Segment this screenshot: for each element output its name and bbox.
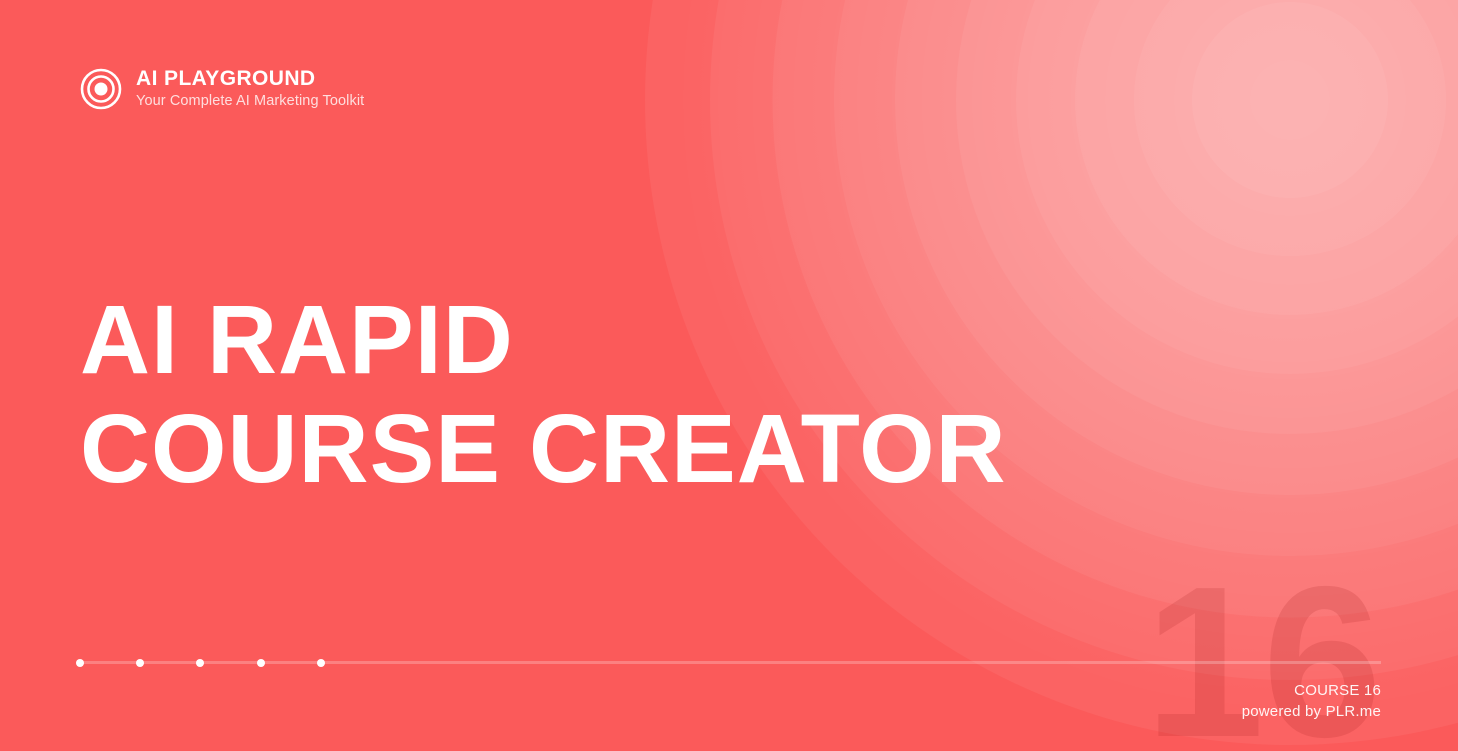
slide-canvas: 16 AI PLAYGROUND Your Complete AI Market…	[0, 0, 1458, 751]
target-circles-icon	[80, 68, 122, 110]
background-ring	[1134, 0, 1446, 256]
progress-dot[interactable]	[76, 659, 84, 667]
footer-course-label: COURSE 16	[1242, 681, 1381, 702]
brand-tagline: Your Complete AI Marketing Toolkit	[136, 93, 364, 110]
progress-dot[interactable]	[136, 659, 144, 667]
progress-dot[interactable]	[257, 659, 265, 667]
slide-footer: COURSE 16 powered by PLR.me	[1242, 681, 1381, 722]
background-ring	[1075, 0, 1458, 315]
brand-title: AI PLAYGROUND	[136, 68, 364, 91]
brand-text-block: AI PLAYGROUND Your Complete AI Marketing…	[136, 68, 364, 109]
progress-dot[interactable]	[317, 659, 325, 667]
hero-title-line-1: AI RAPID	[80, 286, 1200, 395]
brand-lockup: AI PLAYGROUND Your Complete AI Marketing…	[80, 68, 364, 110]
background-ring	[1192, 2, 1388, 198]
hero-title-block: AI RAPID COURSE CREATOR	[80, 286, 1200, 503]
progress-dot[interactable]	[196, 659, 204, 667]
footer-powered-by: powered by PLR.me	[1242, 702, 1381, 723]
progress-track	[80, 661, 1381, 664]
hero-title-line-2: COURSE CREATOR	[80, 395, 1200, 504]
progress-indicator[interactable]	[80, 661, 1381, 664]
